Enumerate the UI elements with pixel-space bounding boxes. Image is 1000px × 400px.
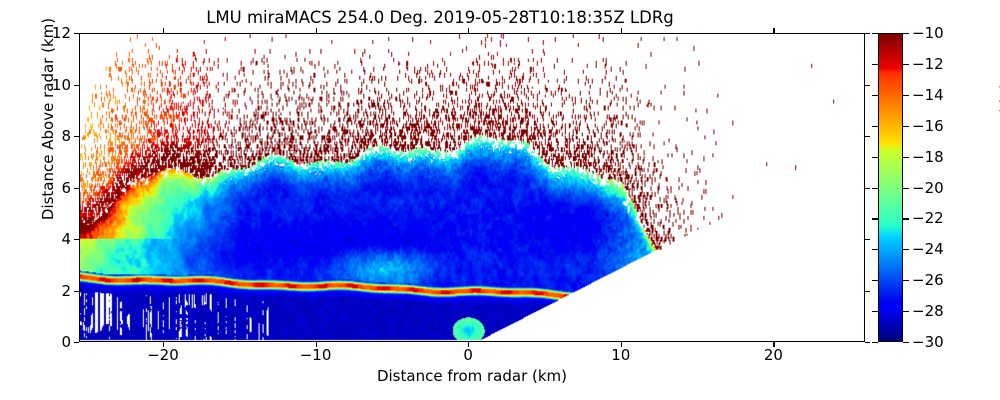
plot-axes-area <box>79 33 865 342</box>
colorbar-tick-mark-left <box>872 33 878 34</box>
colorbar-tick-label: −16 <box>912 117 982 135</box>
y-tick-mark-right <box>865 85 870 86</box>
y-tick-label: 0 <box>0 333 71 351</box>
y-tick-label: 6 <box>0 179 71 197</box>
x-tick-label: −20 <box>103 346 223 364</box>
radar-ldr-heatmap <box>80 34 864 341</box>
y-tick-mark <box>74 239 79 240</box>
radar-rhi-figure: LMU miraMACS 254.0 Deg. 2019-05-28T10:18… <box>0 0 1000 400</box>
x-axis-label: Distance from radar (km) <box>79 367 865 385</box>
colorbar-tick-mark <box>903 188 909 189</box>
heatmap-layer <box>80 34 864 341</box>
colorbar <box>878 33 903 342</box>
x-tick-label: 20 <box>713 346 833 364</box>
x-tick-label: 0 <box>408 346 528 364</box>
x-tick-mark-top <box>468 28 469 33</box>
colorbar-tick-mark <box>903 249 909 250</box>
colorbar-gradient <box>879 34 902 341</box>
colorbar-tick-mark <box>903 280 909 281</box>
y-tick-mark <box>74 85 79 86</box>
y-tick-mark-right <box>865 33 870 34</box>
y-tick-label: 10 <box>0 76 71 94</box>
colorbar-tick-label: −20 <box>912 179 982 197</box>
y-tick-mark <box>74 342 79 343</box>
x-tick-mark <box>773 342 774 347</box>
y-tick-label: 8 <box>0 127 71 145</box>
colorbar-tick-label: −26 <box>912 271 982 289</box>
y-tick-mark <box>74 136 79 137</box>
colorbar-tick-mark-left <box>872 95 878 96</box>
colorbar-tick-mark <box>903 218 909 219</box>
x-tick-mark-top <box>316 28 317 33</box>
colorbar-tick-mark <box>903 33 909 34</box>
colorbar-tick-label: −30 <box>912 333 982 351</box>
y-tick-mark-right <box>865 136 870 137</box>
colorbar-tick-mark-left <box>872 280 878 281</box>
y-tick-mark-right <box>865 239 870 240</box>
x-tick-mark <box>163 342 164 347</box>
colorbar-tick-mark <box>903 311 909 312</box>
colorbar-tick-mark-left <box>872 218 878 219</box>
x-tick-mark-top <box>621 28 622 33</box>
y-tick-mark <box>74 33 79 34</box>
colorbar-tick-mark-left <box>872 126 878 127</box>
y-tick-mark-right <box>865 342 870 343</box>
x-tick-mark-top <box>773 28 774 33</box>
colorbar-tick-label: −24 <box>912 240 982 258</box>
colorbar-tick-mark <box>903 157 909 158</box>
colorbar-tick-label: −12 <box>912 55 982 73</box>
colorbar-tick-mark-left <box>872 157 878 158</box>
page-title: LMU miraMACS 254.0 Deg. 2019-05-28T10:18… <box>0 8 880 27</box>
y-tick-mark-right <box>865 291 870 292</box>
colorbar-tick-mark-left <box>872 188 878 189</box>
y-tick-label: 12 <box>0 24 71 42</box>
y-tick-mark-right <box>865 188 870 189</box>
x-tick-label: 10 <box>561 346 681 364</box>
colorbar-tick-mark-left <box>872 64 878 65</box>
x-tick-mark <box>468 342 469 347</box>
colorbar-tick-mark <box>903 64 909 65</box>
colorbar-tick-mark <box>903 126 909 127</box>
y-tick-mark <box>74 188 79 189</box>
colorbar-tick-label: −22 <box>912 209 982 227</box>
colorbar-tick-mark-left <box>872 342 878 343</box>
y-tick-label: 2 <box>0 282 71 300</box>
x-tick-mark <box>316 342 317 347</box>
colorbar-tick-mark-left <box>872 311 878 312</box>
x-tick-mark-top <box>163 28 164 33</box>
colorbar-tick-mark-left <box>872 249 878 250</box>
y-tick-mark <box>74 291 79 292</box>
colorbar-tick-label: −28 <box>912 302 982 320</box>
colorbar-tick-label: −10 <box>912 24 982 42</box>
x-tick-mark <box>621 342 622 347</box>
x-tick-label: −10 <box>256 346 376 364</box>
colorbar-tick-label: −18 <box>912 148 982 166</box>
colorbar-tick-label: −14 <box>912 86 982 104</box>
colorbar-tick-mark <box>903 342 909 343</box>
y-tick-label: 4 <box>0 230 71 248</box>
colorbar-tick-mark <box>903 95 909 96</box>
